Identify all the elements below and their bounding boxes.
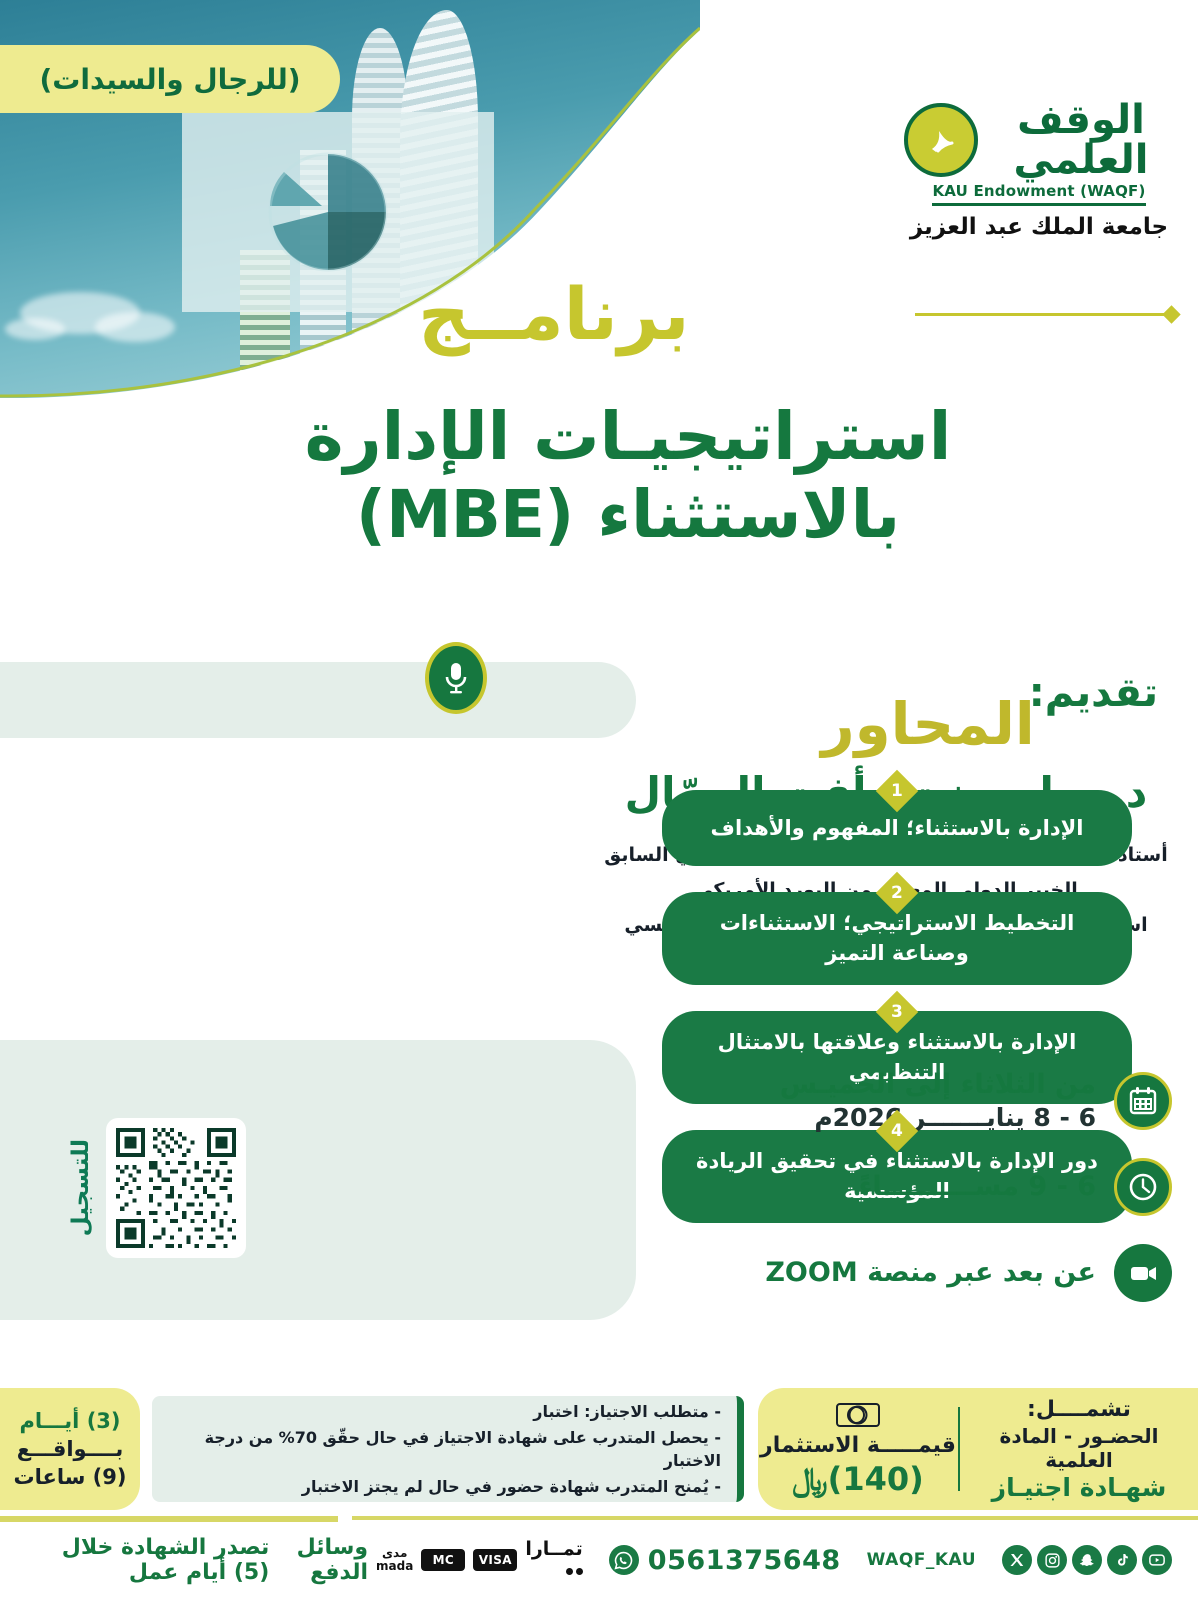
tamara-icon: تمــارا (525, 1538, 582, 1582)
price-label: قيمـــــة الاستثمار (758, 1433, 958, 1458)
whatsapp-icon[interactable] (609, 1545, 639, 1575)
info-row-platform: عن بعد عبر منصة ZOOM (572, 1230, 1172, 1316)
price-column: قيمـــــة الاستثمار (140)﷼ (758, 1399, 958, 1499)
bottom-strip: (3) أيـــام بــــواقـــع (9) ساعات - متط… (0, 1388, 1198, 1510)
footer-rule-right (352, 1516, 1198, 1520)
includes-column: تشمــــل: الحضـور - المادة العلمية شهـاد… (960, 1397, 1198, 1502)
program-kicker-row: برنامــج (418, 278, 1178, 350)
topic-number: 2 (891, 883, 903, 903)
note-line-1: - متطلب الاجتياز: اختبار (162, 1400, 721, 1423)
microphone-icon (425, 642, 487, 714)
topic-number: 3 (891, 1002, 903, 1022)
diamond-icon (1162, 305, 1180, 323)
duration-rate-label: بــــواقـــع (17, 1437, 124, 1461)
title-line-2: بالاستثناء (MBE) (78, 476, 1178, 554)
topics-title: المحاور (658, 690, 1198, 758)
snapchat-icon[interactable] (1072, 1545, 1102, 1575)
info-rows: من الثلاثاء إلى الخميـس 6 - 8 ينايــــــ… (572, 1058, 1172, 1316)
waqf-wordmark: الوقف العلمي (988, 100, 1174, 180)
kicker-rule (704, 308, 1178, 321)
topic-number: 1 (891, 781, 903, 801)
tiktok-icon[interactable] (1107, 1545, 1137, 1575)
includes-certificate: شهـادة اجتيـاز (974, 1473, 1184, 1502)
mada-icon: مدىmada (376, 1547, 413, 1572)
kau-university-ar: جامعة الملك عبد العزيز (904, 214, 1174, 240)
clock-icon (1114, 1158, 1172, 1216)
video-camera-icon (1114, 1244, 1172, 1302)
cloud-2 (95, 312, 175, 342)
banknote-icon (836, 1403, 880, 1427)
pie-chart-graphic (264, 148, 392, 276)
date-line-2: 6 - 8 ينايـــــــر 2026م (780, 1102, 1096, 1135)
social-handle: WAQF_KAU (867, 1550, 976, 1570)
kau-endowment-en: KAU Endowment (WAQF) (932, 182, 1145, 206)
title-line-1: استراتيجيـات الإدارة (78, 398, 1178, 476)
vertical-divider (958, 1407, 960, 1491)
registration-qr[interactable]: للتسجيل (68, 1118, 246, 1258)
duration-badge: (3) أيـــام بــــواقـــع (9) ساعات (0, 1388, 140, 1510)
whatsapp-contact[interactable]: 0561375648 (609, 1545, 841, 1576)
pass-requirement-notes: - متطلب الاجتياز: اختبار - يحصل المتدرب … (152, 1396, 744, 1502)
note-line-2: - يحصل المتدرب على شهادة الاجتياز في حال… (162, 1426, 721, 1472)
phone-number[interactable]: 0561375648 (648, 1545, 841, 1576)
duration-hours: (9) ساعات (14, 1465, 127, 1489)
social-links[interactable] (1002, 1545, 1172, 1575)
qr-code-image[interactable] (106, 1118, 246, 1258)
presenter-band (0, 662, 636, 738)
footer-content: تصدر الشهادة خلال (5) أيام عمل وسائل الد… (0, 1530, 1198, 1590)
footer-rule-left (0, 1516, 338, 1522)
visa-icon: VISA (473, 1549, 517, 1571)
info-row-time: 6 - 9 مســــــــــاءً (572, 1144, 1172, 1230)
kicker-line (915, 313, 1165, 316)
payment-label: وسائل الدفع (295, 1535, 368, 1585)
info-row-date: من الثلاثاء إلى الخميـس 6 - 8 ينايــــــ… (572, 1058, 1172, 1144)
mastercard-icon: MC (421, 1549, 465, 1571)
price-value: (140)﷼ (758, 1460, 958, 1499)
topic-item: 2 التخطيط الاستراتيجي؛ الاستثناءات وصناع… (662, 892, 1132, 985)
footer: تصدر الشهادة خلال (5) أيام عمل وسائل الد… (0, 1516, 1198, 1600)
price-and-includes: تشمــــل: الحضـور - المادة العلمية شهـاد… (758, 1388, 1198, 1510)
date-line-1: من الثلاثاء إلى الخميـس (780, 1067, 1096, 1102)
audience-badge: (للرجال والسيدات) (0, 45, 340, 113)
topic-item: 1 الإدارة بالاستثناء؛ المفهوم والأهداف (662, 790, 1132, 866)
x-twitter-icon[interactable] (1002, 1545, 1032, 1575)
youtube-icon[interactable] (1142, 1545, 1172, 1575)
instagram-icon[interactable] (1037, 1545, 1067, 1575)
duration-days: (3) أيـــام (19, 1409, 120, 1433)
program-kicker: برنامــج (418, 278, 690, 350)
certificate-issuance-note: تصدر الشهادة خلال (5) أيام عمل (26, 1535, 269, 1585)
payment-methods: وسائل الدفع مدىmada MC VISA تمــارا (295, 1535, 583, 1585)
platform-text: عن بعد عبر منصة ZOOM (765, 1255, 1096, 1290)
note-line-3: - يُمنح المتدرب شهادة حضور في حال لم يجت… (162, 1475, 721, 1498)
cloud-3 (5, 318, 65, 340)
time-text: 6 - 9 مســــــــــاءً (859, 1169, 1096, 1204)
calendar-icon (1114, 1072, 1172, 1130)
date-text: من الثلاثاء إلى الخميـس 6 - 8 ينايــــــ… (780, 1067, 1096, 1135)
qr-label: للتسجيل (68, 1139, 94, 1236)
kau-waqf-logo: الوقف العلمي KAU Endowment (WAQF) جامعة … (904, 100, 1174, 240)
includes-title: تشمــــل: (974, 1397, 1184, 1422)
page-title: استراتيجيـات الإدارة بالاستثناء (MBE) (78, 398, 1178, 554)
includes-line: الحضـور - المادة العلمية (974, 1424, 1184, 1472)
topic-number: 4 (891, 1121, 903, 1141)
waqf-seal-icon (904, 103, 978, 177)
